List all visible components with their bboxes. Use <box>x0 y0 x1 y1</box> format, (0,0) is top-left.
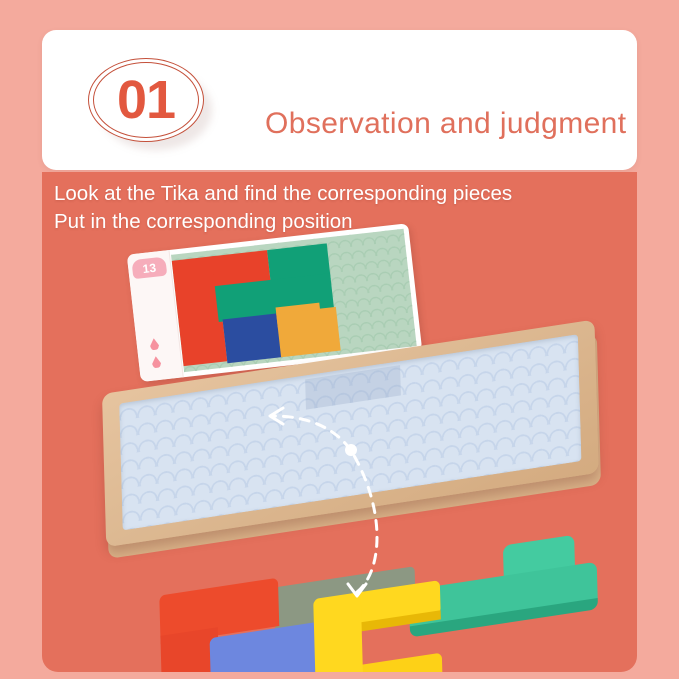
instruction-photo-panel: Look at the Tika and find the correspond… <box>42 172 637 672</box>
card-piece-blue <box>223 313 284 363</box>
page-title: Observation and judgment <box>265 107 627 141</box>
card-pattern-board <box>171 229 417 372</box>
step-number: 01 <box>88 58 204 142</box>
step-badge: 01 <box>88 58 208 144</box>
tray-empty-slot <box>305 365 401 410</box>
difficulty-drop-icon <box>149 338 159 351</box>
difficulty-drop-icon <box>151 356 161 369</box>
card-number-badge: 13 <box>131 257 167 280</box>
screenshot-root: 01 Observation and judgment Look at the … <box>0 0 679 679</box>
card-piece-orange <box>276 307 341 357</box>
product-scene: 13 <box>42 172 637 672</box>
header-card: 01 Observation and judgment <box>42 30 637 170</box>
